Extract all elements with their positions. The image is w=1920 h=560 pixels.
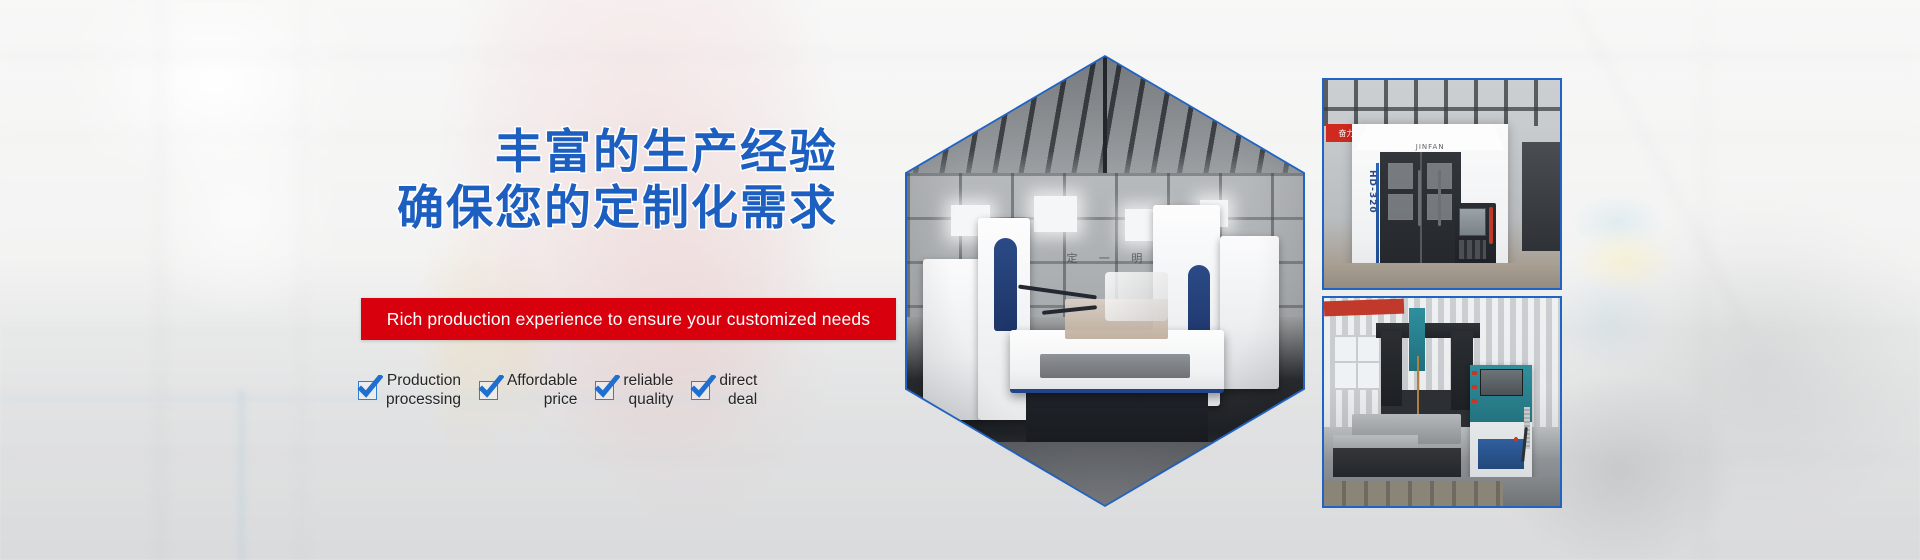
gantry-column-left (1381, 331, 1402, 406)
feature-item-reliable-quality: reliable quality (595, 372, 673, 410)
shop-floor (1324, 263, 1560, 288)
headline-line-1: 丰富的生产经验 (0, 130, 838, 177)
workshop-scene: 定 一 明 (907, 57, 1303, 505)
feature-item-direct-deal: direct deal (691, 372, 757, 410)
window-light (1034, 196, 1078, 232)
checkbox-checked-icon (595, 381, 614, 400)
banner-copy-block: 丰富的生产经验 确保您的定制化需求 Rich production experi… (0, 0, 900, 560)
machine-worktable (1010, 330, 1224, 393)
roof-structure (1324, 80, 1560, 126)
emergency-stop-strip (1489, 207, 1493, 245)
control-screen (1459, 208, 1486, 235)
thumbnail-cnc-machining-center: 奋力 JINFAN HD-320 (1322, 78, 1562, 290)
cabinet-top-panel (1470, 365, 1531, 422)
wrapped-package (1105, 272, 1168, 321)
door-handle (1418, 170, 1421, 226)
hero-hexagon-photo: 定 一 明 (905, 55, 1305, 507)
wall-signage-text: 定 一 明 (1050, 250, 1169, 266)
machine-right (1220, 236, 1279, 388)
subtitle-text: Rich production experience to ensure you… (387, 309, 870, 330)
worktable-slot (1040, 354, 1190, 379)
control-cabinet (1470, 365, 1531, 490)
hexagon-photo-clip: 定 一 明 (907, 57, 1303, 505)
red-banner-sign (1324, 299, 1405, 316)
shop-floor (907, 442, 1303, 505)
control-screen (1480, 369, 1523, 395)
machine-right-unit (1522, 142, 1560, 250)
roof-ridge (1103, 57, 1107, 191)
machine-brand-logo: JINFAN (1404, 143, 1457, 151)
feature-list: Production processing Affordable price r… (358, 372, 898, 420)
edm-machine-scene (1324, 298, 1560, 506)
feature-item-production-processing: Production processing (358, 372, 461, 410)
checkbox-checked-icon (479, 381, 498, 400)
feature-label: Production processing (386, 372, 461, 410)
wall-window (1333, 335, 1380, 389)
machine-left (923, 259, 982, 420)
machine-model-label: HD-320 (1359, 170, 1378, 214)
machine-doors (1380, 152, 1461, 270)
feature-item-affordable-price: Affordable price (479, 372, 577, 410)
checkbox-checked-icon (358, 381, 377, 400)
roof-beam (1324, 107, 1560, 111)
subtitle-red-bar: Rich production experience to ensure you… (361, 298, 896, 340)
headline-line-2: 确保您的定制化需求 (0, 186, 838, 233)
control-keypad (1459, 240, 1486, 259)
indicator-buttons (1472, 371, 1477, 411)
checkbox-checked-icon (691, 381, 710, 400)
door-window (1388, 194, 1412, 220)
cnc-machine-scene: 奋力 JINFAN HD-320 (1324, 80, 1560, 288)
hero-banner: 丰富的生产经验 确保您的定制化需求 Rich production experi… (0, 0, 1920, 560)
thumbnail-edm-machine (1322, 296, 1562, 508)
feature-label: Affordable price (507, 372, 577, 410)
door-handle (1438, 170, 1441, 226)
door-window (1388, 163, 1412, 189)
feature-label: direct deal (719, 372, 757, 410)
wooden-pallet (1324, 481, 1503, 506)
control-keypad-panel (1478, 439, 1525, 469)
feature-label: reliable quality (623, 372, 673, 410)
